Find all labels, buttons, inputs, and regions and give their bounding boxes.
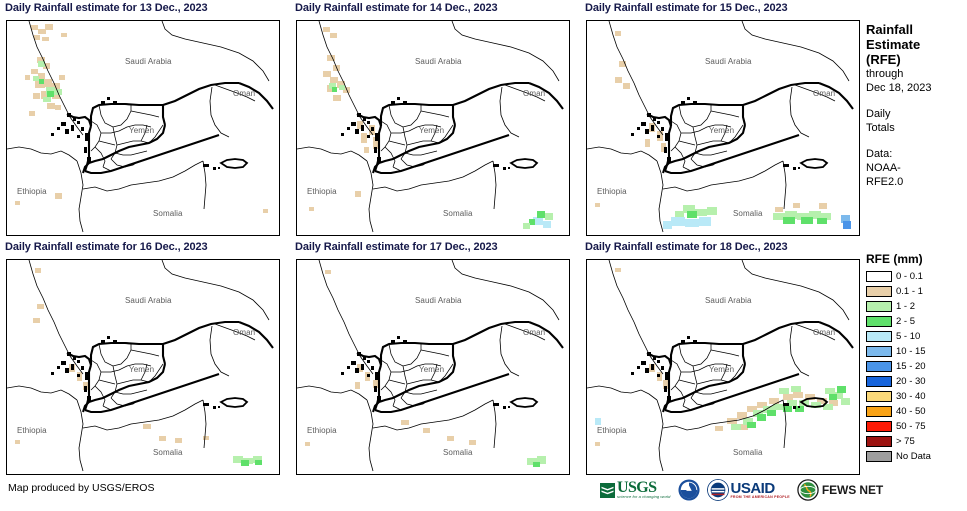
usaid-seal-icon <box>707 479 729 501</box>
panel-title: Daily Rainfall estimate for 17 Dec., 202… <box>295 241 498 253</box>
legend-row: 20 - 30 <box>866 374 967 389</box>
country-label-saudi-arabia: Saudi Arabia <box>125 296 172 305</box>
info-totals-line2: Totals <box>866 121 967 135</box>
map-panel-13-dec: Daily Rainfall estimate for 13 Dec., 202… <box>0 0 280 239</box>
country-label-ethiopia: Ethiopia <box>597 187 627 196</box>
info-title-line2: Estimate <box>866 37 967 52</box>
map-panel-17-dec: Daily Rainfall estimate for 17 Dec., 202… <box>290 239 570 478</box>
usgs-logo[interactable]: USGS science for a changing world <box>600 481 671 499</box>
legend-row: 15 - 20 <box>866 359 967 374</box>
info-title-line3: (RFE) <box>866 52 967 67</box>
country-label-saudi-arabia: Saudi Arabia <box>705 57 752 66</box>
map-panel-15-dec: Daily Rainfall estimate for 15 Dec., 202… <box>580 0 860 239</box>
map-panel-grid: Daily Rainfall estimate for 13 Dec., 202… <box>0 0 860 478</box>
legend-swatch <box>866 301 892 312</box>
legend-swatch <box>866 406 892 417</box>
legend-label: > 75 <box>896 436 915 447</box>
legend-swatch <box>866 316 892 327</box>
info-data-source-line1: NOAA- <box>866 161 967 175</box>
usaid-tagline: FROM THE AMERICAN PEOPLE <box>731 495 790 499</box>
legend-swatch <box>866 376 892 387</box>
map-canvas[interactable]: Saudi Arabia Oman Yemen Ethiopia Somalia <box>586 20 860 236</box>
country-label-oman: Oman <box>813 89 835 98</box>
legend-label: 10 - 15 <box>896 346 926 357</box>
country-label-ethiopia: Ethiopia <box>307 187 337 196</box>
country-label-yemen: Yemen <box>419 365 444 374</box>
legend-swatch <box>866 421 892 432</box>
legend-row: 10 - 15 <box>866 344 967 359</box>
country-label-saudi-arabia: Saudi Arabia <box>705 296 752 305</box>
legend-row: 5 - 10 <box>866 329 967 344</box>
info-data-label: Data: <box>866 147 967 161</box>
legend-label: 0 - 0.1 <box>896 271 923 282</box>
map-panel-14-dec: Daily Rainfall estimate for 14 Dec., 202… <box>290 0 570 239</box>
country-label-yemen: Yemen <box>129 126 154 135</box>
fews-globe-icon <box>797 479 819 501</box>
legend-swatch <box>866 331 892 342</box>
usgs-tagline: science for a changing world <box>617 494 671 499</box>
panel-title: Daily Rainfall estimate for 15 Dec., 202… <box>585 2 788 14</box>
info-through-label: through <box>866 67 967 81</box>
logo-strip: USGS science for a changing world <box>600 479 883 501</box>
country-label-ethiopia: Ethiopia <box>17 426 47 435</box>
country-label-yemen: Yemen <box>709 365 734 374</box>
legend-title: RFE (mm) <box>866 252 967 266</box>
map-panel-16-dec: Daily Rainfall estimate for 16 Dec., 202… <box>0 239 280 478</box>
country-label-somalia: Somalia <box>733 209 763 218</box>
legend-swatch <box>866 436 892 447</box>
legend-label: No Data <box>896 451 931 462</box>
legend-swatch <box>866 286 892 297</box>
map-canvas[interactable]: Saudi Arabia Oman Yemen Ethiopia Somalia <box>296 20 570 236</box>
map-canvas[interactable]: Saudi Arabia Oman Yemen Ethiopia Somalia <box>586 259 860 475</box>
country-label-somalia: Somalia <box>153 448 183 457</box>
legend-label: 1 - 2 <box>896 301 915 312</box>
info-data-source-line2: RFE2.0 <box>866 175 967 189</box>
legend-label: 2 - 5 <box>896 316 915 327</box>
legend-swatch <box>866 346 892 357</box>
country-label-ethiopia: Ethiopia <box>307 426 337 435</box>
usaid-logo[interactable]: USAID FROM THE AMERICAN PEOPLE <box>707 479 790 501</box>
panel-title: Daily Rainfall estimate for 16 Dec., 202… <box>5 241 208 253</box>
country-label-oman: Oman <box>233 328 255 337</box>
country-label-somalia: Somalia <box>153 209 183 218</box>
map-panel-18-dec: Daily Rainfall estimate for 18 Dec., 202… <box>580 239 860 478</box>
panel-title: Daily Rainfall estimate for 18 Dec., 202… <box>585 241 788 253</box>
country-label-oman: Oman <box>233 89 255 98</box>
map-canvas[interactable]: Saudi Arabia Oman Yemen Ethiopia Somalia <box>296 259 570 475</box>
info-totals-line1: Daily <box>866 107 967 121</box>
map-credit: Map produced by USGS/EROS <box>8 482 154 494</box>
legend-swatch <box>866 451 892 462</box>
legend: RFE (mm) 0 - 0.10.1 - 11 - 22 - 55 - 101… <box>866 252 967 464</box>
country-label-oman: Oman <box>813 328 835 337</box>
country-label-oman: Oman <box>523 328 545 337</box>
legend-label: 0.1 - 1 <box>896 286 923 297</box>
legend-label: 15 - 20 <box>896 361 926 372</box>
fews-net-logo[interactable]: FEWS NET <box>797 479 883 501</box>
country-label-ethiopia: Ethiopia <box>597 426 627 435</box>
country-label-saudi-arabia: Saudi Arabia <box>415 296 462 305</box>
country-label-ethiopia: Ethiopia <box>17 187 47 196</box>
rfe-map-page: Daily Rainfall estimate for 13 Dec., 202… <box>0 0 967 511</box>
panel-title: Daily Rainfall estimate for 14 Dec., 202… <box>295 2 498 14</box>
legend-row: 2 - 5 <box>866 314 967 329</box>
country-label-yemen: Yemen <box>129 365 154 374</box>
legend-label: 50 - 75 <box>896 421 926 432</box>
country-label-yemen: Yemen <box>419 126 444 135</box>
legend-row: 30 - 40 <box>866 389 967 404</box>
legend-row: 40 - 50 <box>866 404 967 419</box>
legend-row: 1 - 2 <box>866 299 967 314</box>
map-canvas[interactable]: Saudi Arabia Oman Yemen Ethiopia Somalia <box>6 20 280 236</box>
country-label-somalia: Somalia <box>443 448 473 457</box>
legend-swatch <box>866 391 892 402</box>
legend-rows: 0 - 0.10.1 - 11 - 22 - 55 - 1010 - 1515 … <box>866 269 967 464</box>
country-label-saudi-arabia: Saudi Arabia <box>125 57 172 66</box>
country-label-somalia: Somalia <box>733 448 763 457</box>
legend-label: 40 - 50 <box>896 406 926 417</box>
legend-label: 30 - 40 <box>896 391 926 402</box>
legend-row: > 75 <box>866 434 967 449</box>
legend-label: 5 - 10 <box>896 331 920 342</box>
country-label-oman: Oman <box>523 89 545 98</box>
legend-row: 0 - 0.1 <box>866 269 967 284</box>
fews-net-label: FEWS NET <box>822 483 883 497</box>
country-label-yemen: Yemen <box>709 126 734 135</box>
usgs-mark-icon <box>600 483 615 498</box>
country-label-saudi-arabia: Saudi Arabia <box>415 57 462 66</box>
legend-label: 20 - 30 <box>896 376 926 387</box>
legend-row: No Data <box>866 449 967 464</box>
noaa-logo[interactable] <box>678 479 700 501</box>
info-title-line1: Rainfall <box>866 22 967 37</box>
info-panel: Rainfall Estimate (RFE) through Dec 18, … <box>866 22 967 189</box>
legend-row: 50 - 75 <box>866 419 967 434</box>
legend-swatch <box>866 361 892 372</box>
info-through-date: Dec 18, 2023 <box>866 81 967 95</box>
usaid-label: USAID <box>731 482 790 495</box>
country-label-somalia: Somalia <box>443 209 473 218</box>
map-canvas[interactable]: Saudi Arabia Oman Yemen Ethiopia Somalia <box>6 259 280 475</box>
legend-swatch <box>866 271 892 282</box>
usgs-label: USGS <box>617 481 671 494</box>
panel-title: Daily Rainfall estimate for 13 Dec., 202… <box>5 2 208 14</box>
legend-row: 0.1 - 1 <box>866 284 967 299</box>
noaa-seal-icon <box>678 479 700 501</box>
